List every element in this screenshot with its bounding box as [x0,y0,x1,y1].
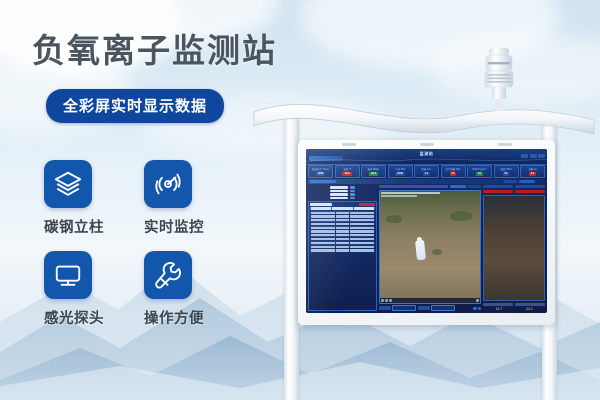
footer-label [418,306,430,310]
page-title: 负氧离子监测站 [32,24,277,72]
video-tab[interactable] [450,185,466,188]
promo-image: 监测站 负氧离子 个/cm³1286温度 ℃18.6噪声 dB(A)42.3气压… [0,0,600,400]
table-cell [336,215,348,217]
metric-card[interactable]: PM2.5 μg/m³31 [467,165,492,178]
table-cell [350,215,375,217]
footer-label [379,306,391,310]
dashboard-subbar [308,179,545,184]
table-cell [350,230,375,232]
table-cell [350,249,375,251]
metric-card-row: 负氧离子 个/cm³1286温度 ℃18.6噪声 dB(A)42.3气压 hPa… [308,165,545,178]
layers-icon-tile[interactable] [44,160,92,208]
summary-row [330,197,355,200]
table-cell [311,230,336,232]
summary-row [330,193,355,196]
secondary-camera-feed[interactable] [483,195,545,301]
feature-item-1: 碳钢立柱 [44,160,144,251]
feature-item-4: 操作方便 [144,251,244,342]
right-tab-row [483,185,545,188]
fullscreen-icon[interactable] [476,299,479,302]
table-cell [350,234,375,236]
video-controls[interactable] [380,298,481,303]
footer-select[interactable] [392,305,416,311]
table-cell [350,223,375,225]
wrench-icon-tile[interactable] [144,251,192,299]
summary-row [330,186,355,189]
shrub [432,249,442,255]
table-row[interactable] [310,222,375,225]
metric-value: 1286 [316,172,326,176]
table-cell [350,212,375,214]
video-osd-text [381,192,439,194]
metric-label: 噪声 dB(A) [368,167,380,171]
table-cell [311,234,336,236]
kiosk-vent [498,143,512,146]
subbar-tab[interactable] [310,180,336,183]
metric-label: 负氧离子 个/cm³ [312,167,329,171]
table-row[interactable] [310,245,375,248]
metric-card[interactable]: 温度 ℃18.6 [335,165,360,178]
dashboard-center-column [379,185,482,311]
metric-card[interactable]: 噪声 dB(A)42.3 [361,165,386,178]
weather-sensor [476,46,522,116]
feature-label: 感光探头 [44,307,104,328]
metric-value: 8.2 [529,172,537,176]
shrub [450,211,472,221]
column-header [354,207,375,209]
table-title [310,203,332,206]
pager-dot[interactable] [478,307,481,310]
left-post [284,118,299,400]
table-row[interactable] [310,241,375,244]
video-title [379,185,449,188]
metric-label: 温度 ℃ [343,167,351,171]
table-toolbar [310,203,375,206]
video-footer [379,305,482,311]
table-cell [311,238,336,240]
table-row[interactable] [310,249,375,252]
table-cell [311,242,336,244]
pause-icon[interactable] [385,299,388,302]
feature-item-2: 实时监控 [144,160,244,251]
table-cell [311,249,336,251]
metric-label: 湿度 %RH [500,167,511,171]
table-cell [336,223,348,225]
monitor-icon [53,260,83,290]
footer-label [483,303,513,306]
metric-card[interactable]: 风速 m/s2.4 [414,165,439,178]
readout-value: 12.7 [495,307,502,311]
table-cell [311,215,336,217]
table-row[interactable] [310,211,375,214]
table-cell [336,234,348,236]
feature-label: 实时监控 [144,216,204,237]
table-cell [311,227,336,229]
metric-label: PM2.5 μg/m³ [473,168,487,171]
metric-card[interactable]: 光照 lux8.2 [520,165,545,178]
feature-item-3: 感光探头 [44,251,144,342]
right-tab[interactable] [515,185,545,188]
monitoring-station: 监测站 负氧离子 个/cm³1286温度 ℃18.6噪声 dB(A)42.3气压… [248,42,600,400]
layers-icon [53,169,83,199]
metric-value: 56 [450,172,457,176]
table-row[interactable] [310,215,375,218]
right-footer [483,303,545,306]
subbar-button[interactable] [519,180,535,183]
table-row[interactable] [310,219,375,222]
table-cell [336,212,348,214]
header-wave-decoration [306,156,547,164]
metric-value: 42.3 [369,172,378,176]
monitor-icon-tile[interactable] [44,251,92,299]
summary-row [330,190,355,193]
metric-value: 63 [503,172,510,176]
footer-select[interactable] [431,305,455,311]
metric-value: 1008 [395,172,405,176]
table-row[interactable] [310,234,375,237]
summary-stats [308,185,377,199]
video-osd-text [381,195,417,197]
table-cell [336,230,348,232]
table-cell [311,223,336,225]
kiosk-vent [342,143,356,146]
table-cell [336,242,348,244]
metric-card[interactable]: 负氧离子 个/cm³1286 [308,165,333,178]
table-cell [336,246,348,248]
monitoring-dashboard: 监测站 负氧离子 个/cm³1286温度 ℃18.6噪声 dB(A)42.3气压… [306,149,547,313]
video-tab[interactable] [467,185,481,188]
dashboard-body: 12.7 23.1 [308,185,545,311]
metric-value: 2.4 [423,172,431,176]
metric-card[interactable]: 湿度 %RH63 [494,165,519,178]
metric-label: 气压 hPa [395,167,405,171]
feature-label: 操作方便 [144,307,204,328]
table-cell [311,219,336,221]
table-cell [350,242,375,244]
table-cell [350,227,375,229]
metric-label: 空气质量 AQI [446,167,460,171]
alert-row [483,190,545,193]
table-cell [336,249,348,251]
table-alert-button[interactable] [359,203,375,206]
alert-badge [515,190,545,193]
table-cell [336,219,348,221]
table-cell [336,227,348,229]
table-cell [350,246,375,248]
metric-card[interactable]: 气压 hPa1008 [388,165,413,178]
radar-icon [153,169,183,199]
right-readouts: 12.7 23.1 [483,307,545,311]
table-row[interactable] [310,238,375,241]
data-table [308,201,377,311]
kiosk-vent [420,143,434,146]
table-header-row [310,207,375,210]
table-cell [311,246,336,248]
alert-badge [483,190,513,193]
table-cell [350,219,375,221]
table-row[interactable] [310,226,375,229]
readout-value: 23.1 [526,307,533,311]
status-badge: 全彩屏实时显示数据 [46,89,224,123]
pager-dot[interactable] [473,307,476,310]
radar-icon-tile[interactable] [144,160,192,208]
dashboard-header: 监测站 [306,149,547,165]
column-header [311,207,332,209]
metric-value: 31 [476,172,483,176]
led-screen: 监测站 负氧离子 个/cm³1286温度 ℃18.6噪声 dB(A)42.3气压… [306,149,547,313]
metric-label: 风速 m/s [422,167,431,171]
footer-label [515,303,545,306]
play-icon[interactable] [381,299,384,302]
table-cell [311,212,336,214]
metric-card[interactable]: 空气质量 AQI56 [441,165,466,178]
subbar-button[interactable] [503,180,517,183]
snapshot-icon[interactable] [389,299,392,302]
dashboard-right-column: 12.7 23.1 [483,185,545,311]
dashboard-left-column [308,185,377,311]
camera-feed[interactable] [379,190,482,304]
metric-label: 光照 lux [528,167,536,171]
table-row[interactable] [310,230,375,233]
display-kiosk: 监测站 负氧离子 个/cm³1286温度 ℃18.6噪声 dB(A)42.3气压… [298,140,555,325]
curved-canopy [248,90,600,146]
feature-grid: 碳钢立柱实时监控感光探头操作方便 [44,160,244,342]
video-toolbar [379,185,482,188]
feature-label: 碳钢立柱 [44,216,104,237]
shrub [386,215,402,223]
person-figure [415,240,426,261]
metric-value: 18.6 [342,172,351,176]
wrench-icon [153,260,183,290]
table-cell [336,238,348,240]
table-cell [350,238,375,240]
right-tab[interactable] [483,185,513,188]
column-header [332,207,353,209]
